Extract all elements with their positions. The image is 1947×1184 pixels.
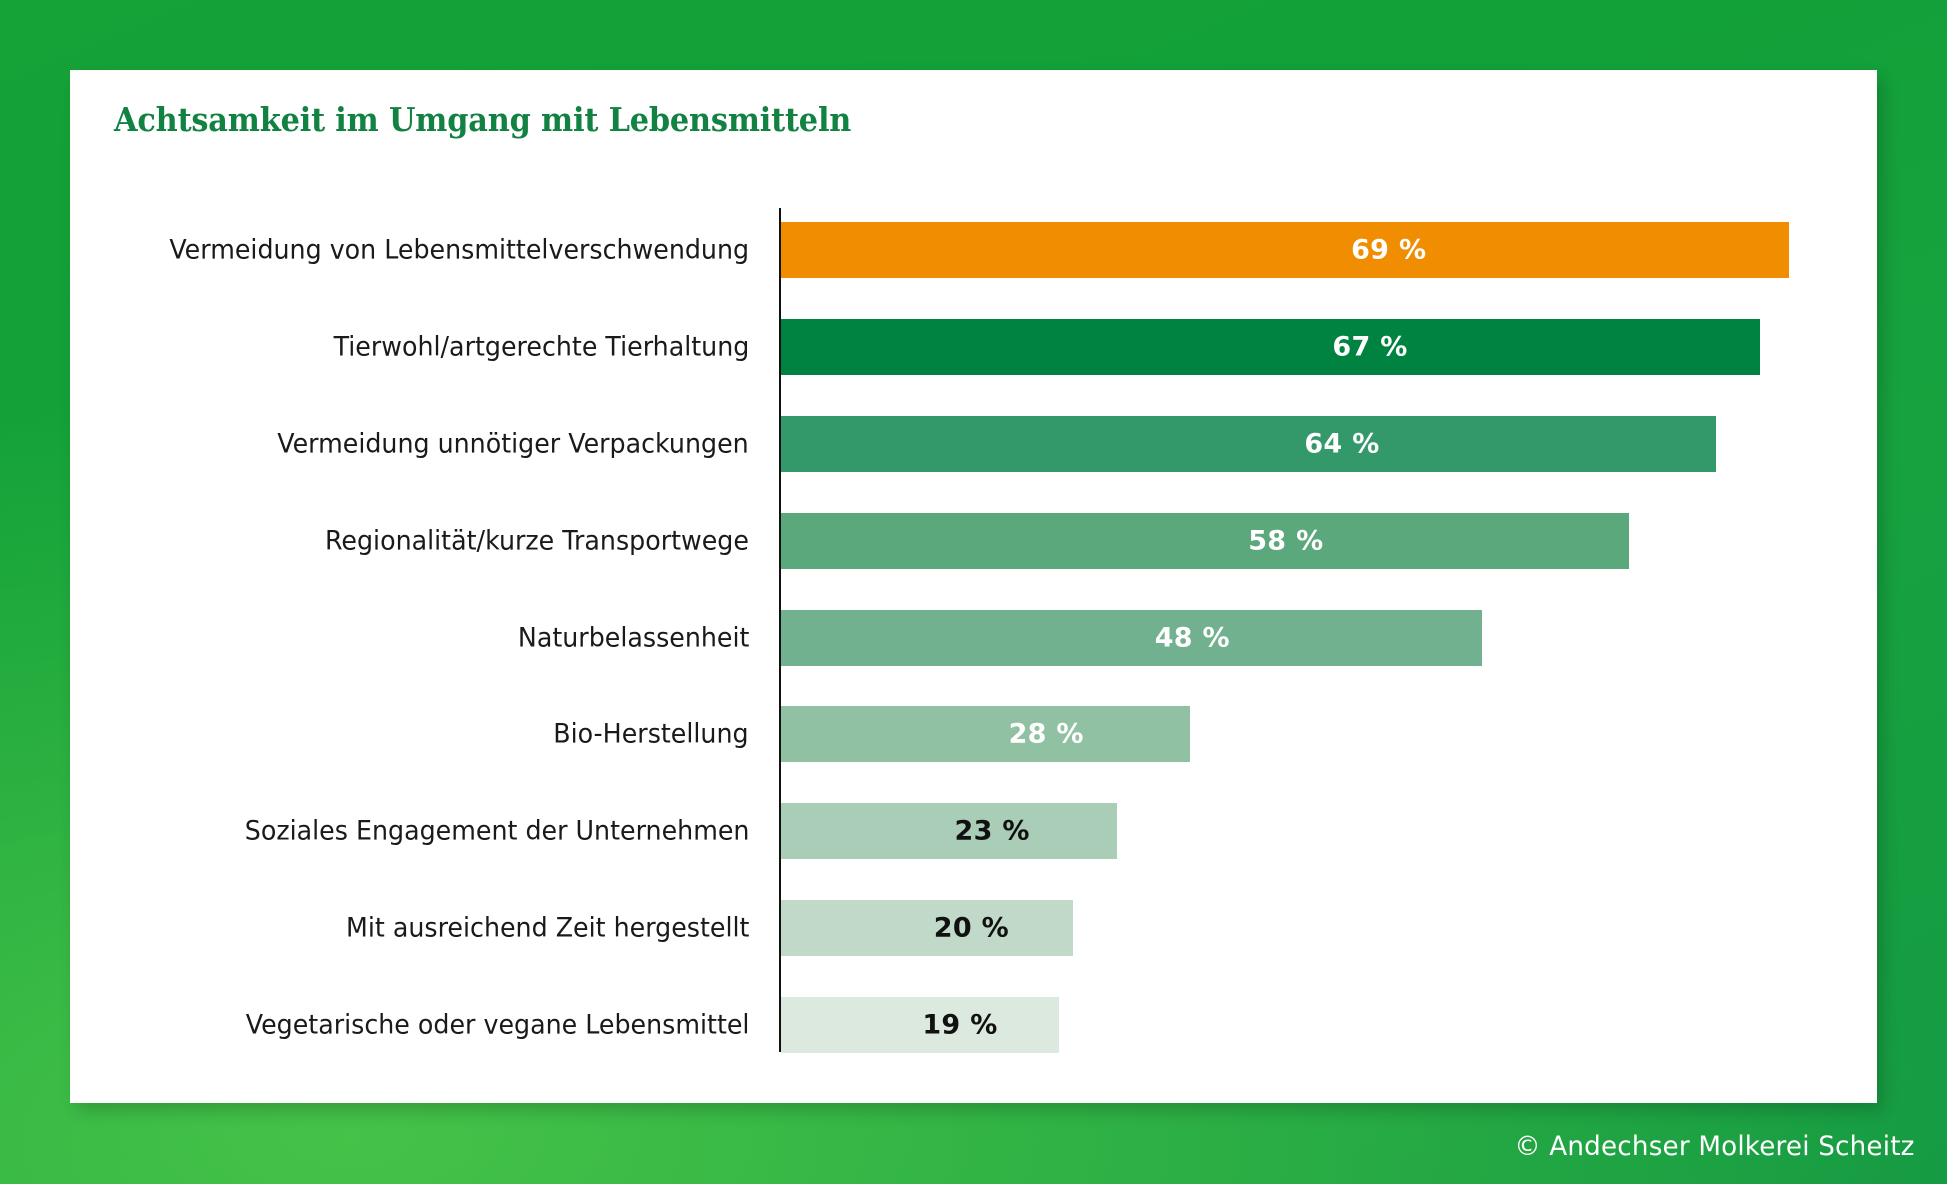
bar[interactable]: 69 % — [781, 222, 1789, 278]
bar-track: 48 % — [781, 610, 1877, 666]
bar-track: 69 % — [781, 222, 1877, 278]
bar-value-label: 28 % — [1009, 719, 1084, 750]
bar[interactable]: 58 % — [781, 513, 1629, 569]
bar-track: 23 % — [781, 803, 1877, 859]
bar-row: Vermeidung unnötiger Verpackungen64 % — [70, 396, 1877, 493]
bar[interactable]: 23 % — [781, 803, 1117, 859]
bar[interactable]: 28 % — [781, 706, 1190, 762]
bar-value-label: 48 % — [1155, 622, 1230, 653]
bar-value-label: 67 % — [1332, 332, 1407, 363]
copyright-notice: © Andechser Molkerei Scheitz — [1515, 1131, 1915, 1162]
bar-value-label: 64 % — [1304, 428, 1379, 459]
bar-row: Regionalität/kurze Transportwege58 % — [70, 492, 1877, 589]
bar-row: Vegetarische oder vegane Lebensmittel19 … — [70, 976, 1877, 1073]
bar-category-label: Soziales Engagement der Unternehmen — [244, 816, 749, 847]
bar[interactable]: 19 % — [781, 997, 1059, 1053]
bar[interactable]: 20 % — [781, 900, 1073, 956]
bar-category-label: Vermeidung unnötiger Verpackungen — [278, 428, 749, 459]
bar-row: Vermeidung von Lebensmittelverschwendung… — [70, 202, 1877, 299]
bar-value-label: 69 % — [1351, 235, 1426, 266]
bar-value-label: 23 % — [954, 816, 1029, 847]
bar[interactable]: 67 % — [781, 319, 1760, 375]
bar-track: 28 % — [781, 706, 1877, 762]
bar-row: Mit ausreichend Zeit hergestellt20 % — [70, 880, 1877, 977]
bar-category-label: Vegetarische oder vegane Lebensmittel — [245, 1009, 749, 1040]
bar[interactable]: 64 % — [781, 416, 1716, 472]
bar-chart-plot: Vermeidung von Lebensmittelverschwendung… — [70, 70, 1877, 1103]
bar-value-label: 58 % — [1248, 525, 1323, 556]
bar-category-label: Naturbelassenheit — [517, 622, 749, 653]
chart-card: Achtsamkeit im Umgang mit Lebensmitteln … — [70, 70, 1877, 1103]
bar-category-label: Vermeidung von Lebensmittelverschwendung — [169, 235, 749, 266]
bar-category-label: Mit ausreichend Zeit hergestellt — [346, 912, 749, 943]
bar-track: 67 % — [781, 319, 1877, 375]
bar-track: 58 % — [781, 513, 1877, 569]
bar-row: Tierwohl/artgerechte Tierhaltung67 % — [70, 299, 1877, 396]
bar-value-label: 19 % — [922, 1009, 997, 1040]
bar[interactable]: 48 % — [781, 610, 1482, 666]
bar-row: Soziales Engagement der Unternehmen23 % — [70, 783, 1877, 880]
bar-row: Naturbelassenheit48 % — [70, 589, 1877, 686]
bar-value-label: 20 % — [934, 912, 1009, 943]
bar-category-label: Regionalität/kurze Transportwege — [325, 525, 749, 556]
bar-category-label: Tierwohl/artgerechte Tierhaltung — [333, 332, 749, 363]
bar-row: Bio-Herstellung28 % — [70, 686, 1877, 783]
bar-category-label: Bio-Herstellung — [554, 719, 749, 750]
bar-rows: Vermeidung von Lebensmittelverschwendung… — [70, 202, 1877, 1073]
bar-track: 19 % — [781, 997, 1877, 1053]
bar-track: 64 % — [781, 416, 1877, 472]
bar-track: 20 % — [781, 900, 1877, 956]
